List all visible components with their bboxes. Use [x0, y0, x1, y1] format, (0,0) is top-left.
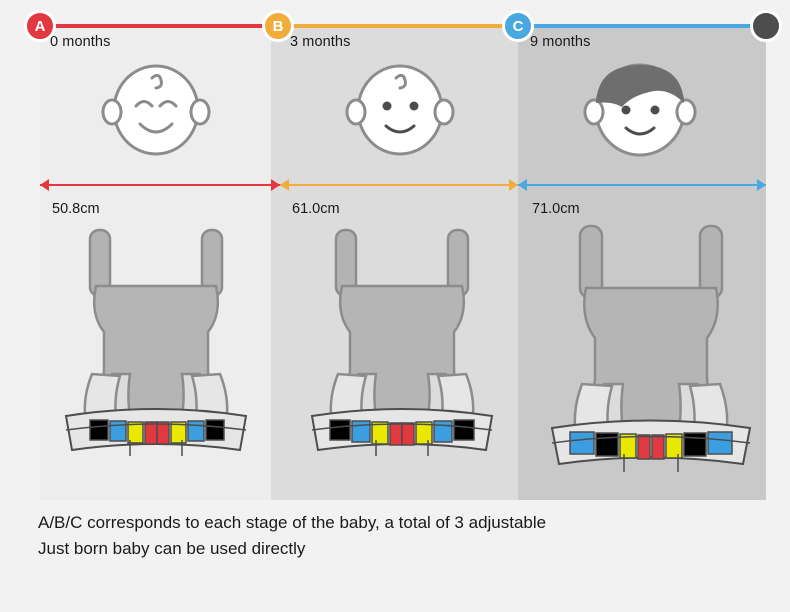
measurement-label-stage-3: 71.0cm: [532, 201, 580, 217]
toddler-face-with-hair-icon: [566, 58, 714, 163]
age-label-stage-1: 0 months: [50, 34, 110, 50]
timeline-end-marker: [750, 10, 782, 42]
measurement-arrow-stage-3: [518, 178, 766, 192]
age-label-stage-2: 3 months: [290, 34, 350, 50]
caption-block: A/B/C corresponds to each stage of the b…: [38, 510, 768, 563]
caption-line-2: Just born baby can be used directly: [38, 536, 768, 562]
baby-carrier-icon-stage-2: [298, 224, 506, 481]
baby-face-open-eyes-icon: [326, 58, 474, 163]
timeline-rail-c: [518, 24, 758, 28]
baby-face-eyes-closed-icon: [82, 58, 230, 163]
measurement-label-stage-2: 61.0cm: [292, 201, 340, 217]
measurement-label-stage-1: 50.8cm: [52, 201, 100, 217]
measurement-arrow-stage-1: [40, 178, 280, 192]
infographic-root: A B C 0 months 3 months 9 months: [0, 0, 790, 612]
baby-carrier-icon-stage-1: [52, 224, 260, 481]
age-label-stage-3: 9 months: [530, 34, 590, 50]
measurement-arrow-stage-2: [280, 178, 518, 192]
timeline-rail-b: [278, 24, 518, 28]
baby-carrier-icon-stage-3: [540, 224, 762, 499]
timeline-rail-a: [40, 24, 278, 28]
caption-line-1: A/B/C corresponds to each stage of the b…: [38, 510, 768, 536]
